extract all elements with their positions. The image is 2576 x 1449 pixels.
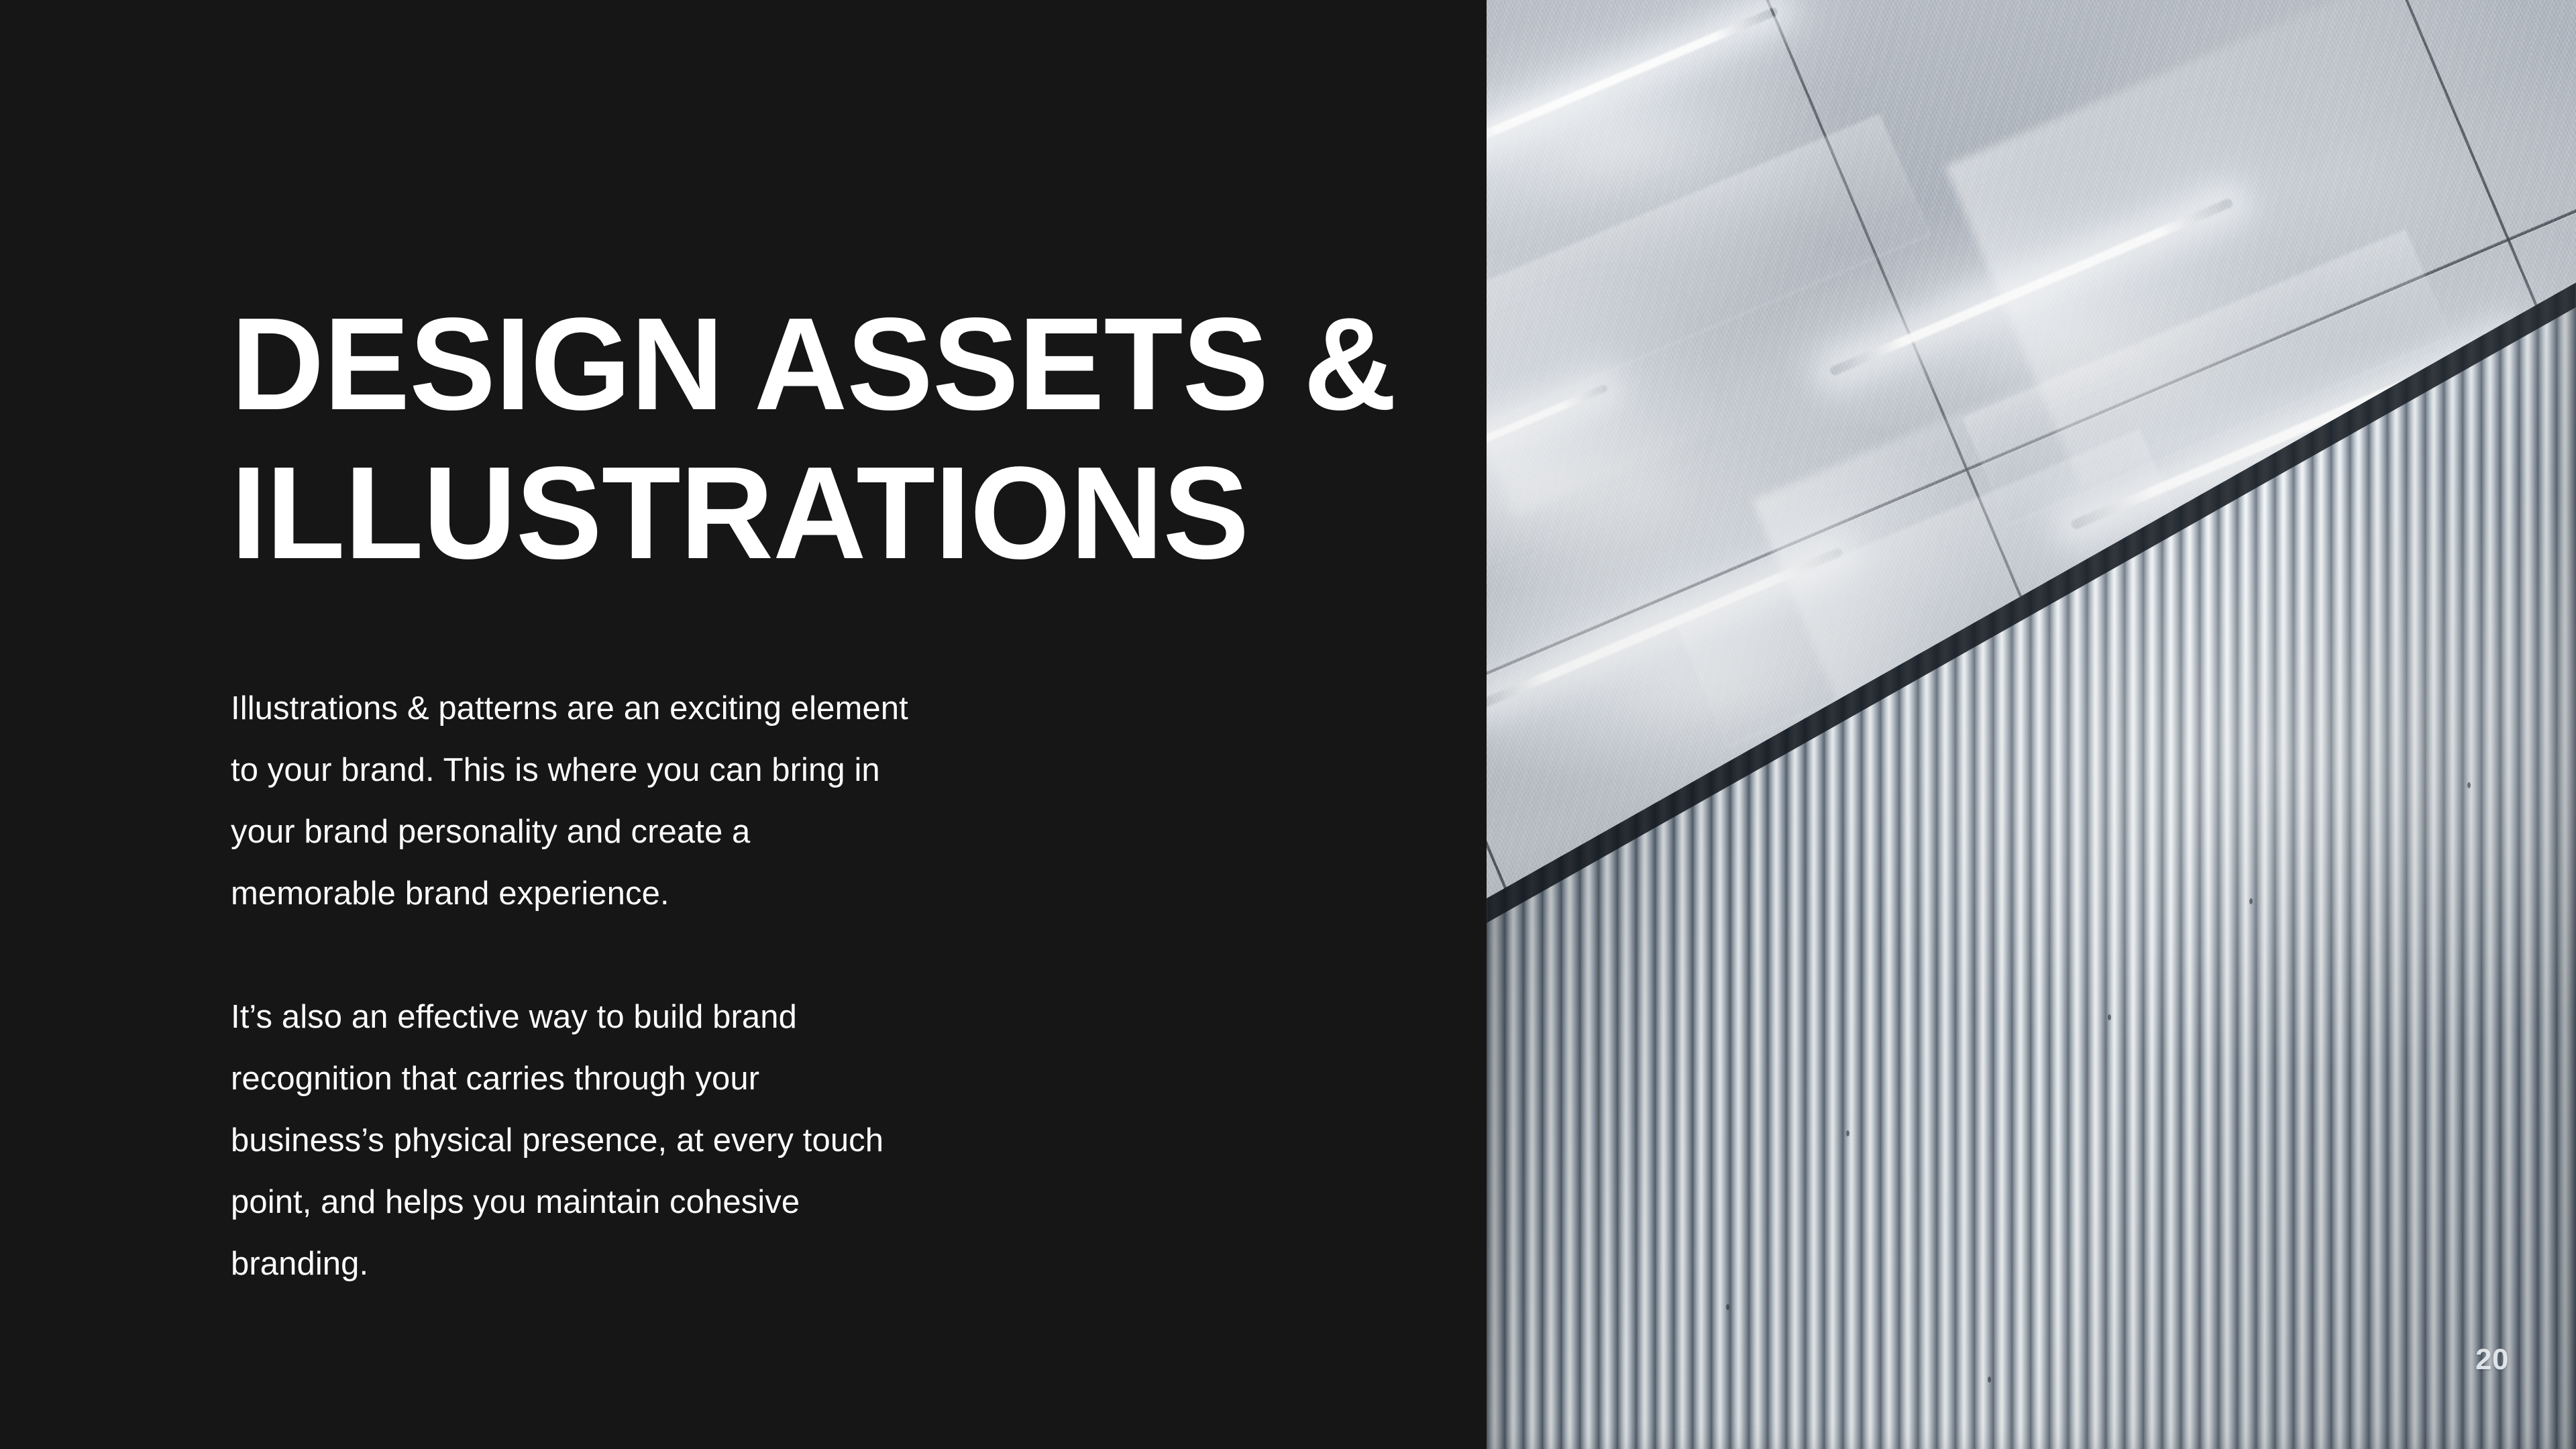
photo-inner <box>1487 0 2576 1449</box>
page-title: DESIGN ASSETS & ILLUSTRATIONS <box>231 290 1438 588</box>
body-line: branding. <box>231 1233 1170 1295</box>
body-line: Illustrations & patterns are an exciting… <box>231 678 1170 739</box>
wall-fastener <box>2249 898 2253 904</box>
wall-fastener <box>1846 1130 1849 1136</box>
hero-photo: 20 <box>1487 0 2576 1449</box>
page-title-line-1: DESIGN ASSETS & <box>231 290 1420 439</box>
body-line: point, and helps you maintain cohesive <box>231 1171 1170 1233</box>
wall-fastener <box>1988 1377 1991 1383</box>
body-paragraph-1: Illustrations & patterns are an exciting… <box>231 678 1170 924</box>
wall-fastener <box>2467 782 2471 788</box>
page-number: 20 <box>2475 1343 2509 1377</box>
body-line: recognition that carries through your <box>231 1048 1170 1110</box>
body-line: your brand personality and create a <box>231 801 1170 863</box>
slide-canvas: 20 DESIGN ASSETS & ILLUSTRATIONS Illustr… <box>0 0 2576 1449</box>
wall-fastener <box>1726 1304 1729 1310</box>
body-line: to your brand. This is where you can bri… <box>231 739 1170 801</box>
left-content-panel: DESIGN ASSETS & ILLUSTRATIONS Illustrati… <box>0 0 1487 1449</box>
body-paragraph-2: It’s also an effective way to build bran… <box>231 986 1170 1295</box>
body-copy: Illustrations & patterns are an exciting… <box>231 678 1170 1295</box>
page-title-line-2: ILLUSTRATIONS <box>231 439 1420 588</box>
body-line: It’s also an effective way to build bran… <box>231 986 1170 1048</box>
wall-fastener <box>2108 1014 2111 1020</box>
body-line: memorable brand experience. <box>231 863 1170 924</box>
body-line: business’s physical presence, at every t… <box>231 1110 1170 1171</box>
